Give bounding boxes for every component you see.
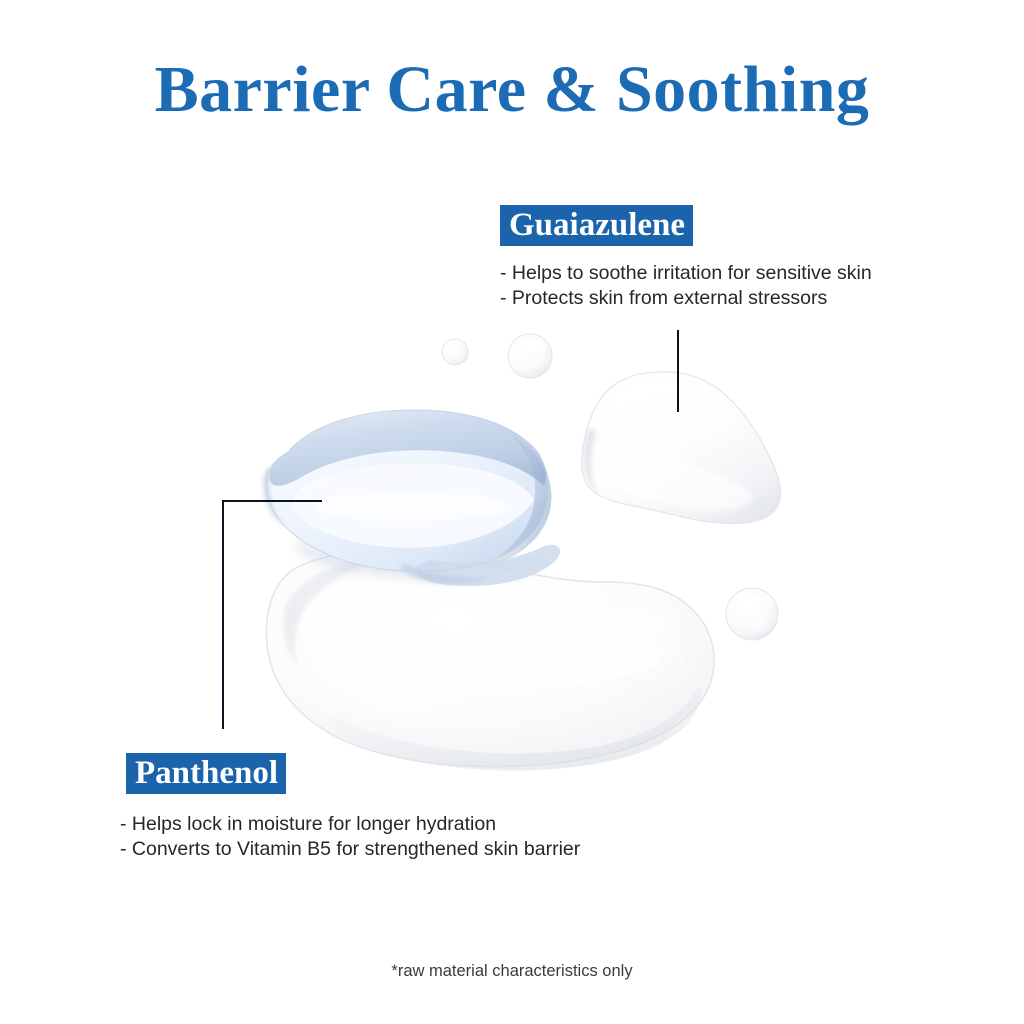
leader-line-guaiazulene bbox=[677, 330, 679, 412]
callout-guaiazulene: Guaiazulene - Helps to soothe irritation… bbox=[500, 205, 872, 311]
ingredient-benefits-guaiazulene: - Helps to soothe irritation for sensiti… bbox=[500, 261, 872, 311]
droplet-small-left bbox=[442, 339, 468, 365]
white-serum-swatch bbox=[582, 372, 781, 524]
page-title: Barrier Care & Soothing bbox=[0, 55, 1024, 124]
product-texture-artwork bbox=[0, 0, 1024, 1024]
poster-canvas: Barrier Care & Soothing bbox=[0, 0, 1024, 1024]
benefit-line: - Converts to Vitamin B5 for strengthene… bbox=[120, 837, 580, 862]
blue-cream-swatch bbox=[263, 410, 560, 586]
footnote-disclaimer: *raw material characteristics only bbox=[0, 962, 1024, 981]
ingredient-badge-panthenol: Panthenol bbox=[126, 753, 286, 794]
leader-line-panthenol-vertical bbox=[222, 500, 224, 729]
benefit-line: - Helps to soothe irritation for sensiti… bbox=[500, 261, 872, 286]
droplet-medium-right bbox=[726, 588, 778, 640]
callout-panthenol: Panthenol - Helps lock in moisture for l… bbox=[126, 753, 580, 862]
benefit-line: - Protects skin from external stressors bbox=[500, 286, 872, 311]
benefit-line: - Helps lock in moisture for longer hydr… bbox=[120, 812, 580, 837]
ingredient-badge-guaiazulene: Guaiazulene bbox=[500, 205, 693, 246]
leader-line-panthenol-horizontal bbox=[222, 500, 322, 502]
droplet-medium-top bbox=[508, 334, 552, 378]
ingredient-benefits-panthenol: - Helps lock in moisture for longer hydr… bbox=[120, 812, 580, 862]
white-cream-pool bbox=[266, 551, 714, 771]
